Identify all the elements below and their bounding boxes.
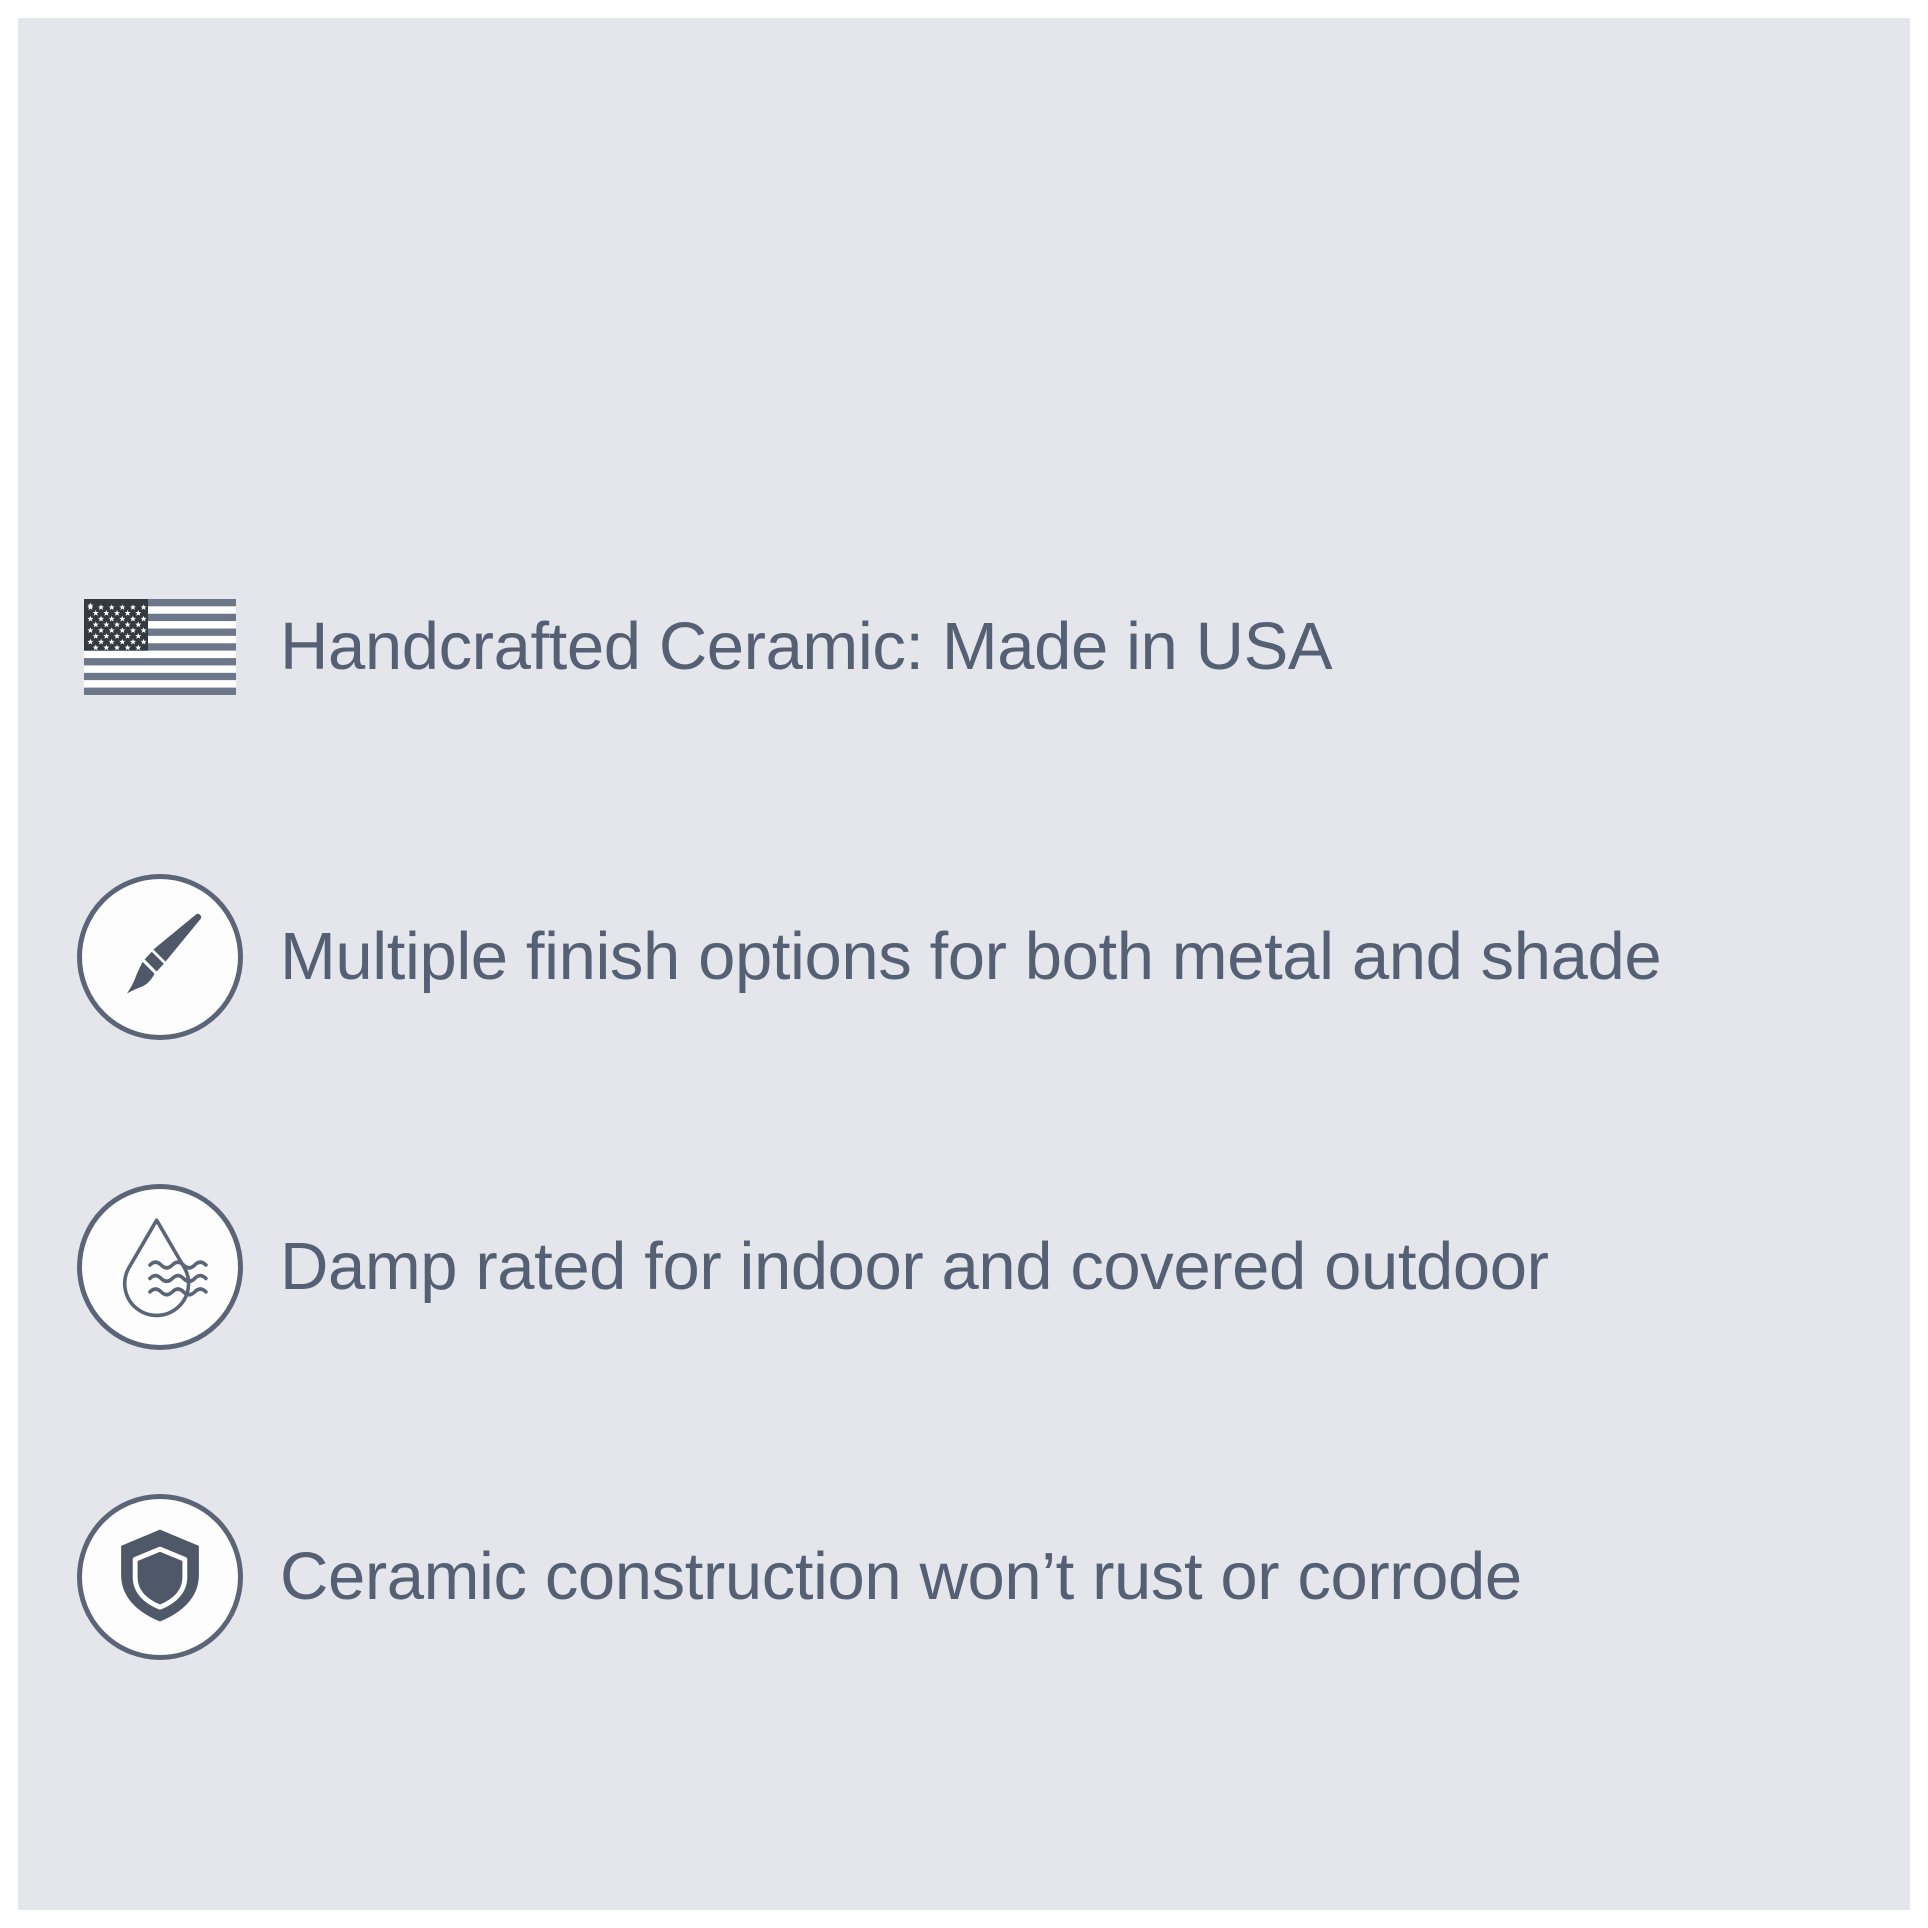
feature-label: Damp rated for indoor and covered outdoo… bbox=[280, 1231, 1549, 1303]
feature-row: Multiple finish options for both metal a… bbox=[70, 802, 1870, 1112]
icon-circle bbox=[77, 1494, 243, 1660]
shield-icon bbox=[106, 1521, 214, 1634]
icon-circle bbox=[77, 874, 243, 1040]
feature-label: Handcrafted Ceramic: Made in USA bbox=[280, 611, 1332, 683]
feature-panel: Handcrafted Ceramic: Made in USA bbox=[18, 18, 1910, 1910]
feature-row: Ceramic construction won’t rust or corro… bbox=[70, 1422, 1870, 1732]
usa-flag-icon bbox=[77, 564, 243, 730]
feature-label: Multiple finish options for both metal a… bbox=[280, 921, 1661, 993]
icon-circle bbox=[77, 1184, 243, 1350]
feature-icon-slot bbox=[70, 1487, 250, 1667]
water-drop-waves-icon bbox=[104, 1209, 216, 1326]
feature-icon-slot bbox=[70, 1177, 250, 1357]
feature-list: Handcrafted Ceramic: Made in USA bbox=[70, 492, 1870, 1732]
feature-row: Handcrafted Ceramic: Made in USA bbox=[70, 492, 1870, 802]
feature-icon-slot bbox=[70, 867, 250, 1047]
feature-label: Ceramic construction won’t rust or corro… bbox=[280, 1541, 1522, 1613]
feature-row: Damp rated for indoor and covered outdoo… bbox=[70, 1112, 1870, 1422]
paintbrush-icon bbox=[105, 900, 215, 1015]
feature-icon-slot bbox=[70, 557, 250, 737]
